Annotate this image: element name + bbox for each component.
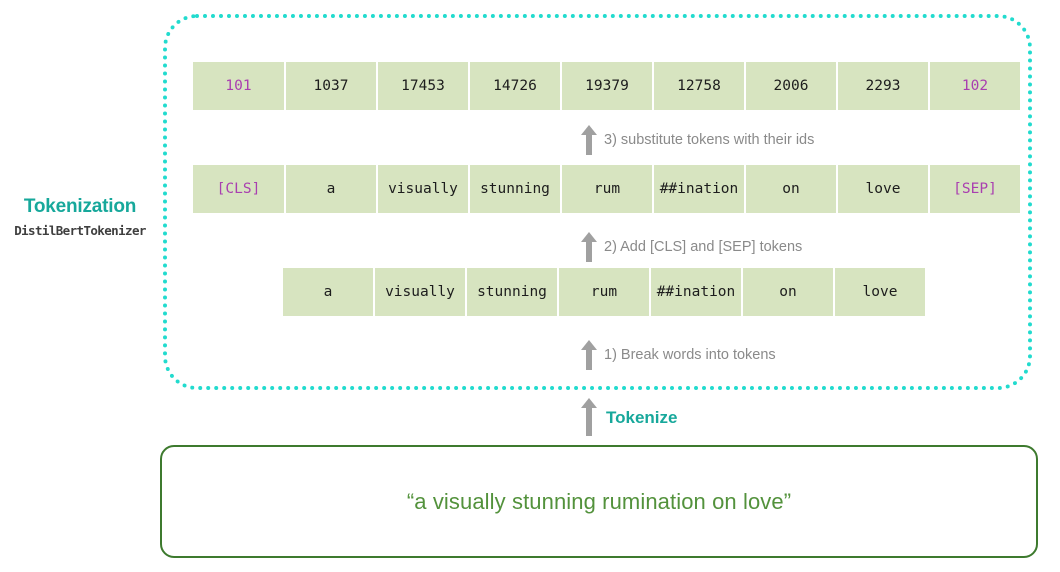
token-cell: love bbox=[835, 268, 925, 316]
token-cell: stunning bbox=[470, 165, 560, 213]
arrow-up-icon-tokenize bbox=[581, 398, 597, 436]
token-cell: rum bbox=[562, 165, 652, 213]
token-cell: stunning bbox=[467, 268, 557, 316]
token-cell: a bbox=[286, 165, 376, 213]
token-cell: on bbox=[746, 165, 836, 213]
arrow-up-icon-step2 bbox=[581, 232, 597, 262]
arrow-stem bbox=[586, 240, 592, 262]
arrow-up-icon-step1 bbox=[581, 340, 597, 370]
arrow-up-icon-step3 bbox=[581, 125, 597, 155]
token-cell: 2293 bbox=[838, 62, 928, 110]
token-cell: visually bbox=[375, 268, 465, 316]
tokenization-label-group: Tokenization DistilBertTokenizer bbox=[0, 196, 160, 238]
step-3-label: 3) substitute tokens with their ids bbox=[604, 132, 814, 148]
tokenize-label: Tokenize bbox=[606, 408, 677, 428]
input-sentence-text: “a visually stunning rumination on love” bbox=[407, 489, 791, 515]
step-1-label: 1) Break words into tokens bbox=[604, 347, 776, 363]
arrow-stem bbox=[586, 133, 592, 155]
token-cell: 19379 bbox=[562, 62, 652, 110]
token-cell: ##ination bbox=[651, 268, 741, 316]
tokens-with-special-row: [CLS]avisuallystunningrum##inationonlove… bbox=[193, 165, 1020, 213]
tokens-row: avisuallystunningrum##inationonlove bbox=[283, 268, 925, 316]
token-ids-row: 10110371745314726193791275820062293102 bbox=[193, 62, 1020, 110]
page-title: Tokenization bbox=[0, 196, 160, 218]
token-cell: 101 bbox=[193, 62, 284, 110]
token-cell: visually bbox=[378, 165, 468, 213]
step-2-label: 2) Add [CLS] and [SEP] tokens bbox=[604, 239, 802, 255]
token-cell: 102 bbox=[930, 62, 1020, 110]
token-cell: 17453 bbox=[378, 62, 468, 110]
arrow-stem bbox=[586, 348, 592, 370]
token-cell: [CLS] bbox=[193, 165, 284, 213]
token-cell: [SEP] bbox=[930, 165, 1020, 213]
tokenizer-class-name: DistilBertTokenizer bbox=[0, 223, 160, 238]
token-cell: a bbox=[283, 268, 373, 316]
token-cell: 14726 bbox=[470, 62, 560, 110]
token-cell: on bbox=[743, 268, 833, 316]
token-cell: 1037 bbox=[286, 62, 376, 110]
arrow-stem bbox=[586, 406, 592, 436]
token-cell: 2006 bbox=[746, 62, 836, 110]
token-cell: love bbox=[838, 165, 928, 213]
input-sentence-box: “a visually stunning rumination on love” bbox=[160, 445, 1038, 558]
token-cell: rum bbox=[559, 268, 649, 316]
token-cell: 12758 bbox=[654, 62, 744, 110]
token-cell: ##ination bbox=[654, 165, 744, 213]
